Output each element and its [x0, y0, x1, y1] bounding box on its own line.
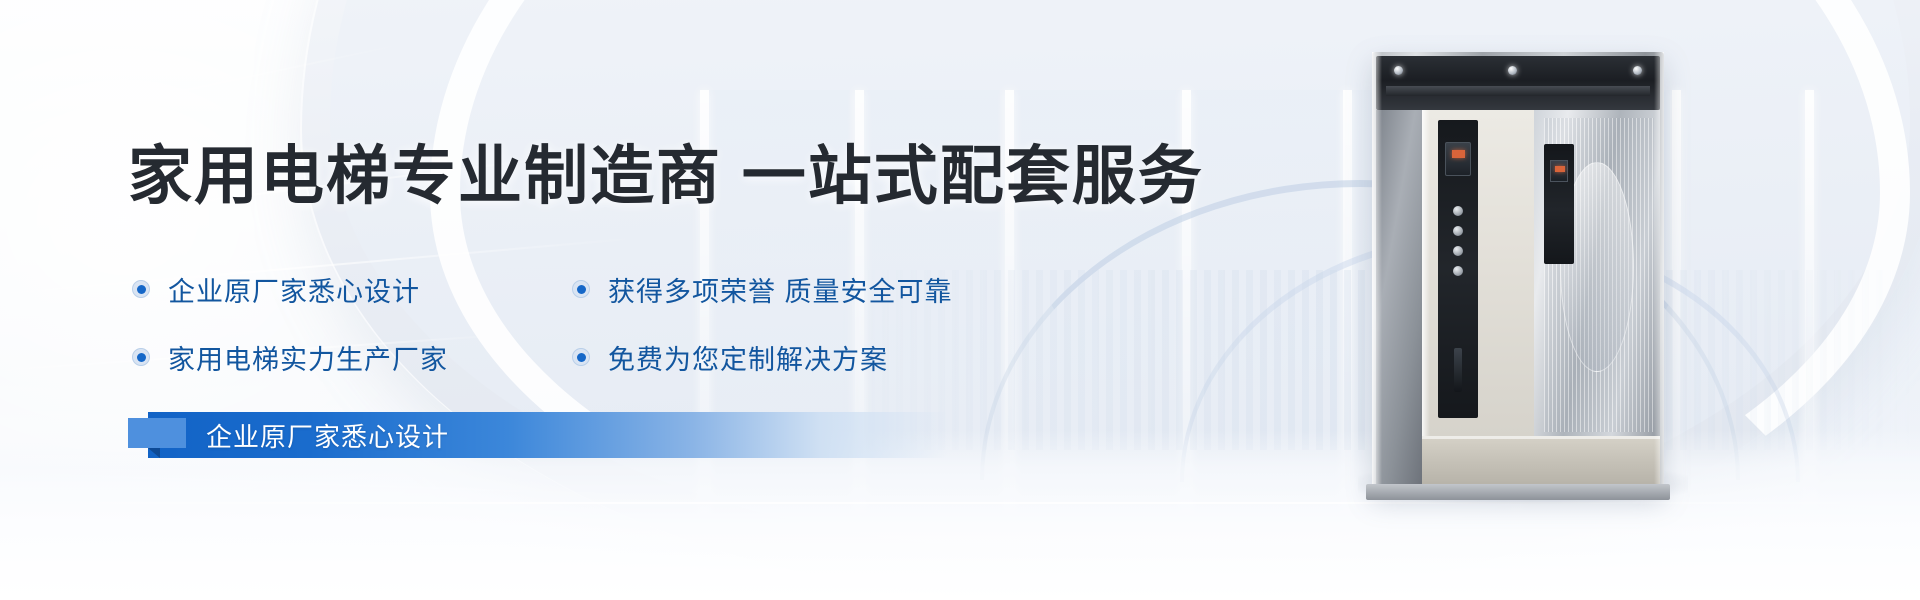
- cabin-floor: [1422, 436, 1660, 488]
- frame-right-highlight: [1654, 52, 1664, 492]
- feature-label: 家用电梯实力生产厂家: [168, 338, 448, 377]
- elevator-canopy: [1376, 56, 1660, 110]
- home-elevator-image: [1372, 52, 1664, 492]
- bullet-dot-icon: [132, 280, 150, 298]
- feature-list: 企业原厂家悉心设计 获得多项荣誉 质量安全可靠 家用电梯实力生产厂家 免费为您定…: [132, 255, 992, 391]
- cabin-left-wall: [1376, 110, 1422, 488]
- ribbon-fold-shape: [148, 448, 160, 458]
- control-button-icon: [1453, 266, 1463, 276]
- feature-item: 家用电梯实力生产厂家: [132, 338, 572, 377]
- highlight-ribbon: 企业原厂家悉心设计: [128, 412, 948, 458]
- feature-item: 获得多项荣誉 质量安全可靠: [572, 270, 992, 309]
- frame-left-highlight: [1372, 52, 1382, 492]
- canopy-light-icon: [1394, 66, 1403, 75]
- control-button-icon: [1453, 226, 1463, 236]
- ribbon-bar: 企业原厂家悉心设计: [148, 412, 948, 458]
- ribbon-tab-shape: [128, 418, 186, 448]
- control-display-icon: [1550, 160, 1568, 182]
- bullet-dot-icon: [572, 280, 590, 298]
- bullet-dot-icon: [572, 348, 590, 366]
- elevator-cabin: [1376, 110, 1660, 488]
- canopy-light-icon: [1508, 66, 1517, 75]
- control-panel-strip: [1454, 348, 1462, 392]
- elevator-outer-frame: [1372, 52, 1664, 492]
- canopy-trim: [1386, 86, 1650, 96]
- promo-banner: 家用电梯专业制造商 一站式配套服务 企业原厂家悉心设计 获得多项荣誉 质量安全可…: [0, 0, 1920, 600]
- bullet-dot-icon: [132, 348, 150, 366]
- feature-label: 企业原厂家悉心设计: [168, 270, 420, 309]
- feature-item: 免费为您定制解决方案: [572, 338, 992, 377]
- feature-label: 免费为您定制解决方案: [608, 338, 888, 377]
- cabin-secondary-control-panel: [1544, 144, 1574, 264]
- feature-item: 企业原厂家悉心设计: [132, 270, 572, 309]
- feature-label: 获得多项荣誉 质量安全可靠: [608, 270, 953, 309]
- canopy-light-icon: [1633, 66, 1642, 75]
- control-display-icon: [1445, 142, 1471, 176]
- ribbon-label: 企业原厂家悉心设计: [148, 417, 449, 454]
- control-button-icon: [1453, 206, 1463, 216]
- cabin-control-panel: [1438, 120, 1478, 418]
- elevator-base-plate: [1366, 484, 1670, 500]
- banner-content: 家用电梯专业制造商 一站式配套服务 企业原厂家悉心设计 获得多项荣誉 质量安全可…: [0, 0, 1300, 600]
- banner-headline: 家用电梯专业制造商 一站式配套服务: [128, 125, 1204, 217]
- control-button-icon: [1453, 246, 1463, 256]
